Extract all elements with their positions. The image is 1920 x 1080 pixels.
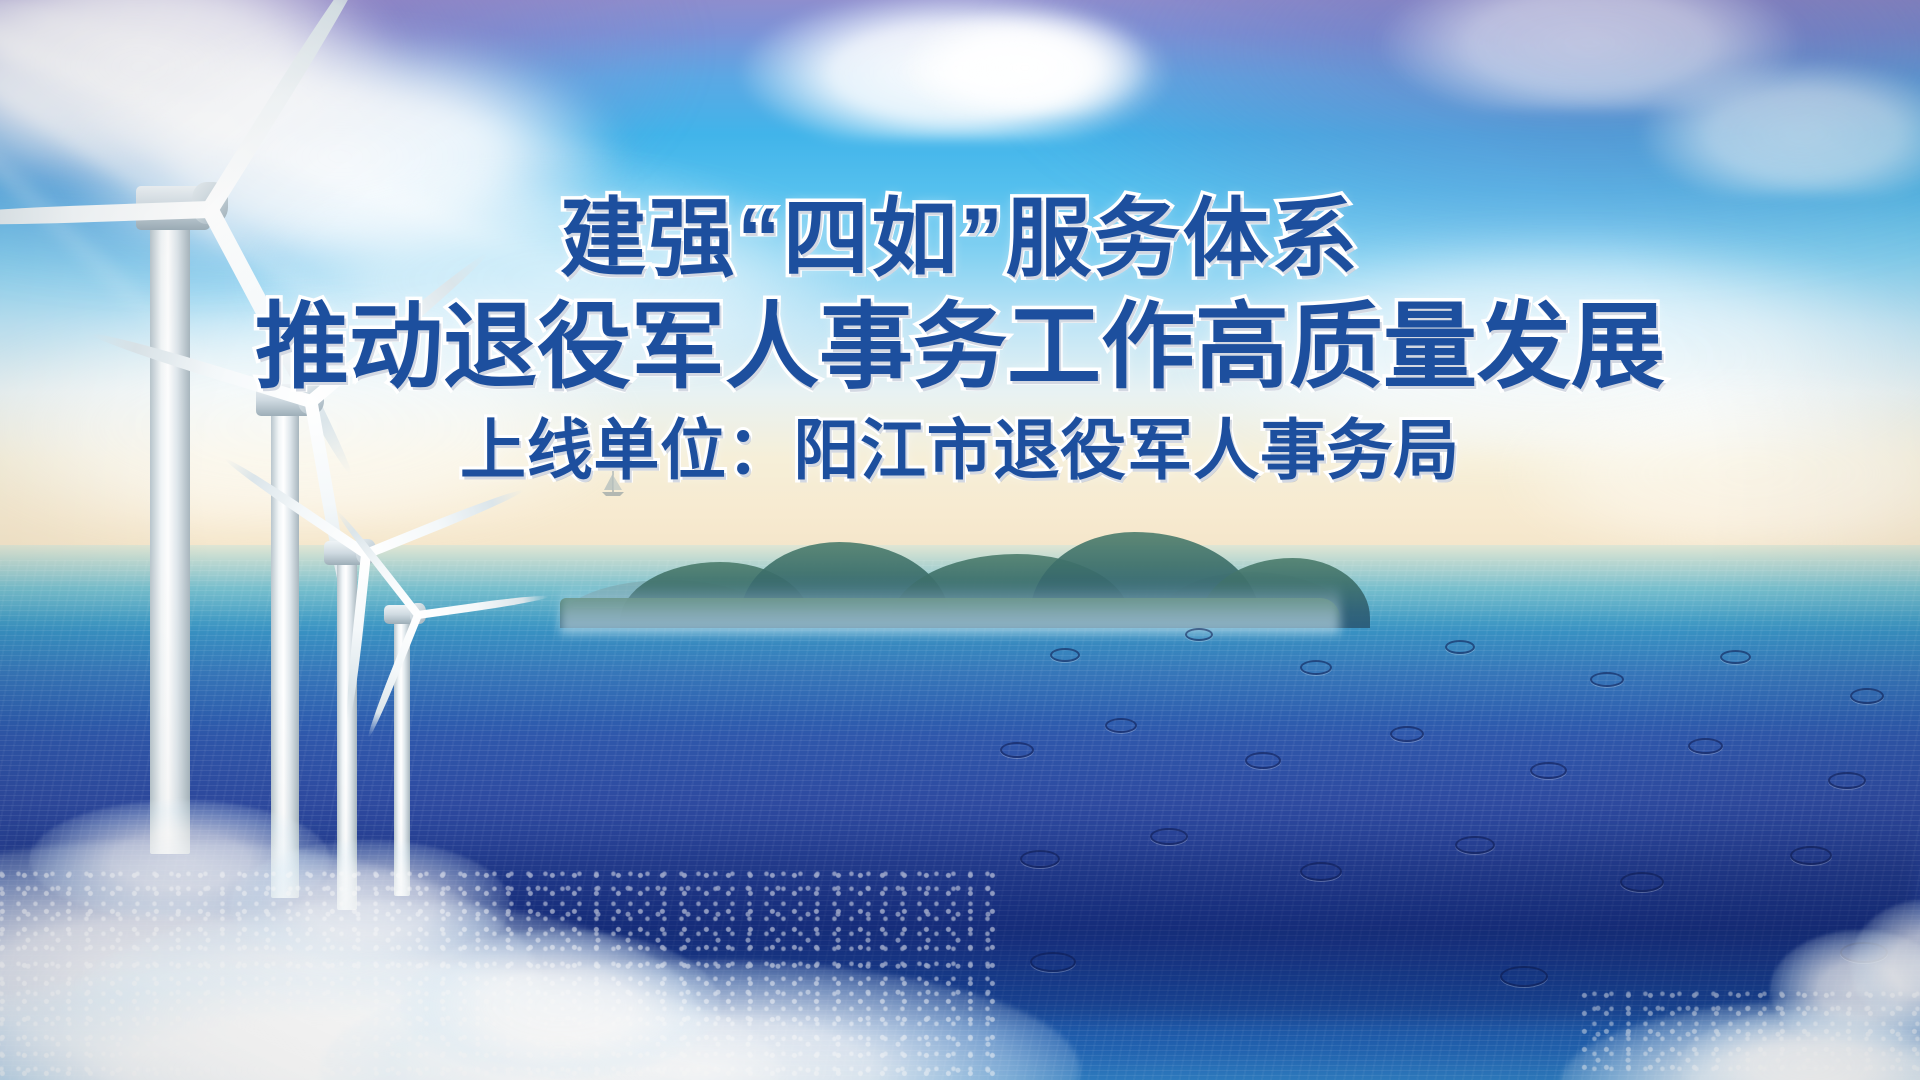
subtitle-line: 上线单位：阳江市退役军人事务局 [0,417,1920,483]
headline-line-2: 推动退役军人事务工作高质量发展 [0,300,1920,394]
sea-background [0,545,1920,1080]
banner-poster: 建强“四如”服务体系 推动退役军人事务工作高质量发展 上线单位：阳江市退役军人事… [0,0,1920,1080]
headline-line-1: 建强“四如”服务体系 [0,196,1920,282]
